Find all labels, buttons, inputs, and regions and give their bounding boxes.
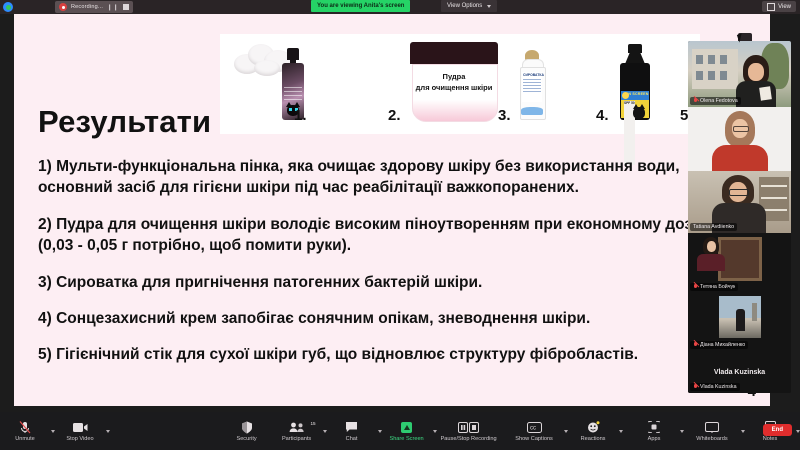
show-captions-button[interactable]: cc Show Captions [505, 421, 563, 442]
whiteboard-icon [705, 421, 719, 434]
unmute-control[interactable]: Unmute [0, 421, 55, 442]
viewing-screen-notice: You are viewing Anita's screen [311, 0, 410, 12]
apps-icon [648, 421, 660, 434]
share-screen-label: Share Screen [389, 436, 423, 442]
apps-label: Apps [648, 436, 661, 442]
recording-indicator[interactable]: Recording... ❙❙ [55, 1, 133, 13]
participants-button[interactable]: 15 Participants [272, 421, 322, 442]
stop-video-button[interactable]: Stop Video [55, 421, 105, 442]
participant-tile[interactable]: Тетяна Бойчук [688, 233, 791, 293]
share-screen-icon [401, 421, 412, 434]
result-item-1: 1) Мульти-функціональна пінка, яка очища… [38, 156, 754, 199]
participants-label: Participants [282, 436, 311, 442]
share-screen-button[interactable]: Share Screen [382, 421, 432, 442]
participant-name: Тетяна Бойчук [700, 284, 735, 290]
avatar [719, 296, 761, 338]
chat-button[interactable]: Chat [327, 421, 377, 442]
product-image-strip: 1. Пудрадля очищення шкіри 2. СИРОВАТКА … [220, 34, 700, 134]
pause-stop-recording-label: Pause/Stop Recording [441, 436, 497, 442]
whiteboards-label: Whiteboards [696, 436, 727, 442]
svg-text:cc: cc [530, 425, 536, 431]
powder-jar-label: Пудрадля очищення шкіри [414, 72, 494, 94]
show-captions-label: Show Captions [515, 436, 553, 442]
mic-off-icon [693, 284, 698, 290]
product-number-2: 2. [388, 107, 401, 124]
stop-video-control[interactable]: Stop Video [55, 421, 110, 442]
stop-icon[interactable] [123, 4, 129, 10]
grid-icon [767, 3, 775, 11]
participants-control[interactable]: 15 Participants [272, 421, 327, 442]
apps-control[interactable]: Apps [629, 421, 684, 442]
zoom-meeting-window: Recording... ❙❙ You are viewing Anita's … [0, 0, 800, 450]
result-item-4: 4) Сонцезахисний крем запобігає сонячним… [38, 308, 754, 329]
video-icon [73, 421, 88, 434]
view-layout-button[interactable]: View [762, 1, 796, 12]
show-captions-control[interactable]: cc Show Captions [505, 421, 568, 442]
pause-stop-icon [458, 421, 480, 434]
security-label: Security [236, 436, 256, 442]
share-screen-control[interactable]: Share Screen [382, 421, 437, 442]
captions-icon: cc [527, 421, 542, 434]
mic-off-icon [693, 384, 698, 390]
chat-icon [345, 421, 358, 434]
whiteboards-button[interactable]: Whiteboards [684, 421, 740, 442]
participant-name-badge: Тетяна Бойчук [690, 283, 738, 291]
serum-rollon-image: СИРОВАТКА [520, 50, 544, 118]
chat-label: Chat [346, 436, 358, 442]
participant-tile[interactable] [688, 107, 791, 171]
whiteboards-control[interactable]: Whiteboards [684, 421, 745, 442]
participant-name: Vlada Kuzinska [700, 384, 737, 390]
result-item-3: 3) Сироватка для пригнічення патогенних … [38, 272, 754, 293]
mic-off-icon [693, 98, 698, 104]
chevron-up-icon[interactable] [796, 430, 800, 433]
result-item-5: 5) Гігієнічний стік для сухої шкіри губ,… [38, 344, 754, 365]
chevron-up-icon[interactable] [619, 430, 623, 433]
shared-slide: 1. Пудрадля очищення шкіри 2. СИРОВАТКА … [14, 14, 770, 406]
chevron-up-icon[interactable] [106, 430, 110, 433]
pause-icon[interactable]: ❙❙ [107, 4, 119, 11]
record-dot-icon [59, 3, 67, 11]
shield-icon [241, 421, 253, 434]
product-number-4: 4. [596, 107, 609, 124]
serum-label: СИРОВАТКА [523, 73, 541, 77]
stop-video-label: Stop Video [66, 436, 93, 442]
unmute-button[interactable]: Unmute [0, 421, 50, 442]
participant-name-badge: Tatiana Avdiienko [690, 223, 737, 231]
reactions-icon [587, 421, 600, 434]
chevron-down-icon [487, 5, 491, 8]
participant-name-badge: Olena Fedotova [690, 97, 741, 105]
top-bar: Recording... ❙❙ You are viewing Anita's … [0, 0, 800, 14]
page-title: Результати [38, 104, 211, 140]
zoom-logo-icon [3, 2, 13, 12]
participant-name: Діана Михайленко [700, 342, 745, 348]
participant-tile[interactable]: Діана Михайленко [688, 293, 791, 351]
viewing-screen-label: You are viewing Anita's screen [317, 3, 404, 9]
participants-count: 15 [310, 421, 315, 426]
chat-control[interactable]: Chat [327, 421, 382, 442]
end-meeting-button[interactable]: End [763, 424, 792, 436]
sunscreen-bottle-image: SUN SCREEN SPF 50 [620, 44, 650, 120]
meeting-toolbar: Unmute Stop Video Security [0, 412, 800, 450]
slide-body: 1) Мульти-функціональна пінка, яка очища… [38, 156, 754, 381]
reactions-button[interactable]: Reactions [568, 421, 618, 442]
notes-label: Notes [763, 436, 778, 442]
view-options-button[interactable]: View Options [441, 0, 497, 12]
reactions-control[interactable]: Reactions [568, 421, 623, 442]
participant-video-panel[interactable]: Olena Fedotova Tatiana Avdiienko Тетяна … [688, 41, 791, 393]
reactions-label: Reactions [581, 436, 606, 442]
participant-name: Tatiana Avdiienko [693, 224, 734, 230]
mic-off-icon [693, 342, 698, 348]
people-icon [289, 421, 305, 434]
unmute-label: Unmute [15, 436, 35, 442]
view-options-label: View Options [447, 3, 482, 9]
security-button[interactable]: Security [222, 421, 272, 442]
participant-tile[interactable]: Tatiana Avdiienko [688, 171, 791, 233]
pause-stop-recording-button[interactable]: Pause/Stop Recording [437, 421, 501, 442]
participant-name: Olena Fedotova [700, 98, 738, 104]
result-item-2: 2) Пудра для очищення шкіри володіє висо… [38, 214, 754, 257]
recording-label: Recording... [71, 4, 103, 10]
participant-name-badge: Vlada Kuzinska [690, 383, 740, 391]
participant-display-name: Vlada Kuzinska [714, 369, 765, 376]
apps-button[interactable]: Apps [629, 421, 679, 442]
mic-off-icon [19, 421, 31, 434]
participant-name-badge: Діана Михайленко [690, 341, 748, 349]
participant-tile[interactable]: Vlada Kuzinska Vlada Kuzinska [688, 351, 791, 393]
participant-tile[interactable]: Olena Fedotova [688, 41, 791, 107]
view-button-label: View [778, 4, 791, 10]
product-number-1: 1. [294, 107, 307, 124]
powder-jar-image: Пудрадля очищення шкіри [410, 42, 498, 122]
product-number-3: 3. [498, 107, 511, 124]
